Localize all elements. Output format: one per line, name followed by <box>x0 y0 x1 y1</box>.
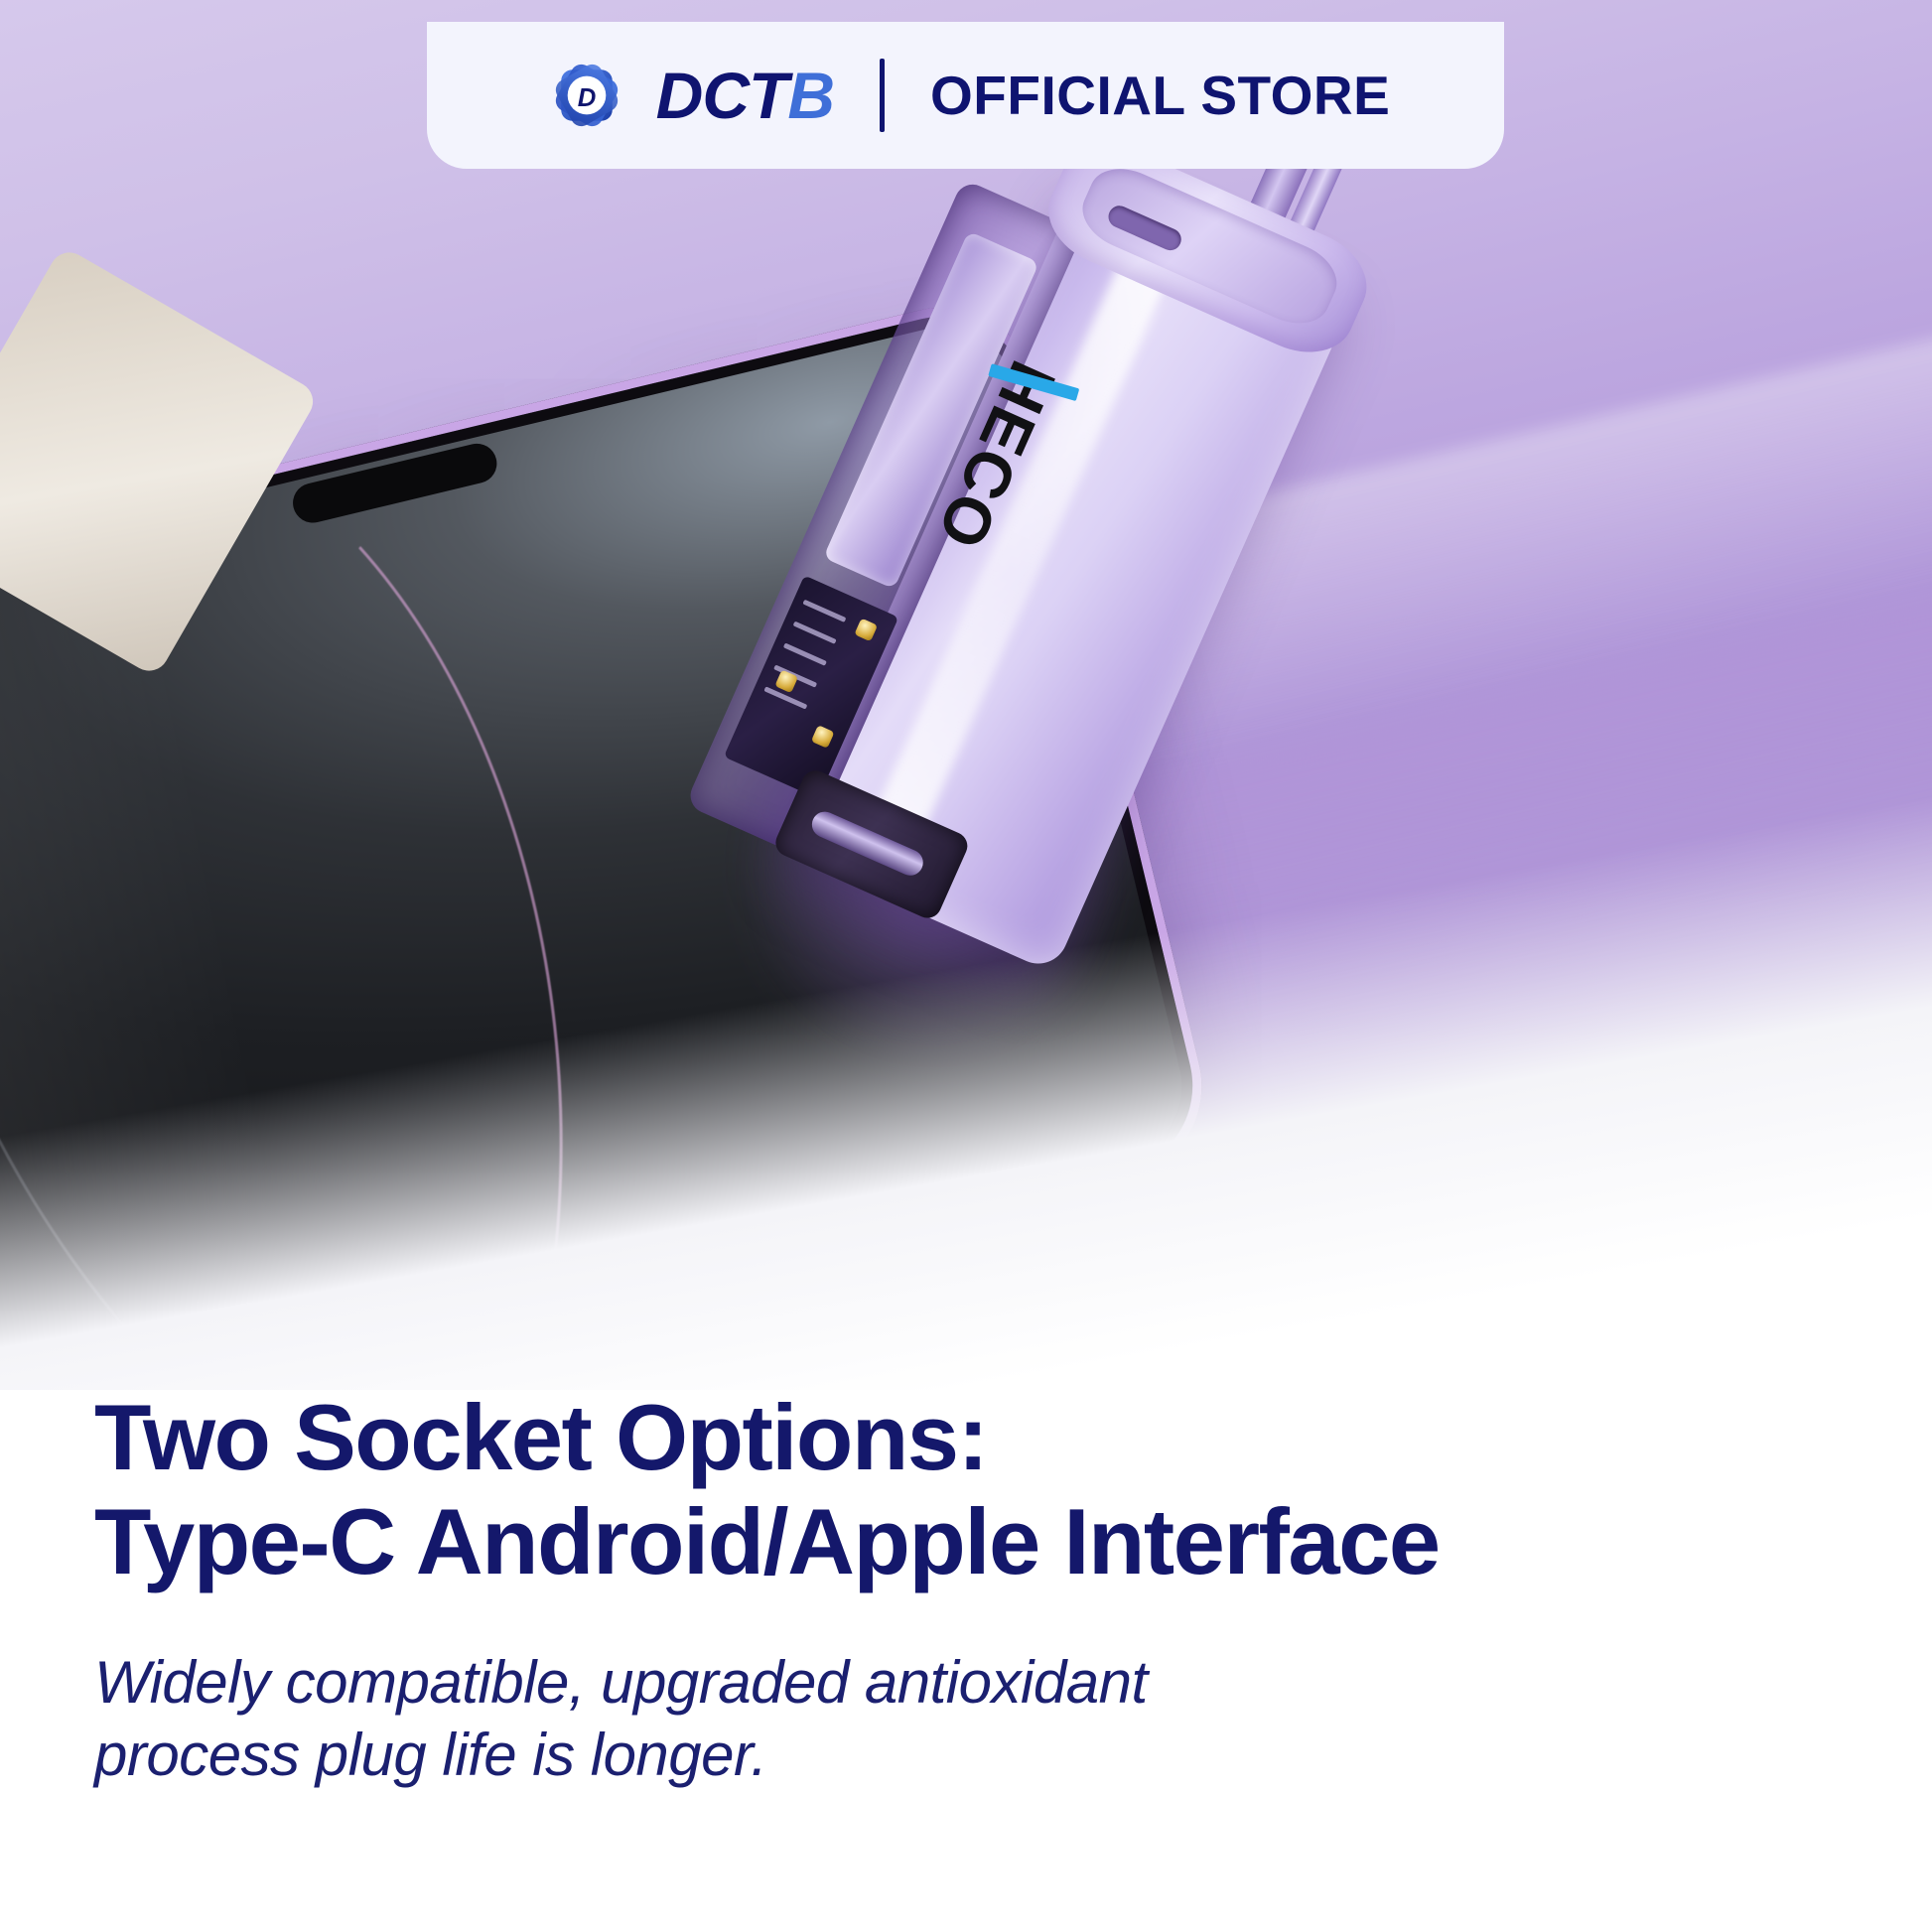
product-banner: HECO <box>0 0 1932 1932</box>
gold-contact <box>854 619 878 642</box>
dctb-flower-logo-icon: D <box>541 50 632 141</box>
pcb-trace <box>802 600 846 622</box>
headline: Two Socket Options: Type-C Android/Apple… <box>94 1385 1782 1594</box>
usb-c-port <box>808 807 927 880</box>
pcb-trace <box>793 621 837 644</box>
svg-text:D: D <box>577 84 596 112</box>
pcb-trace <box>783 642 827 665</box>
brand-wordmark: DCTB <box>656 58 834 133</box>
copy-block: Two Socket Options: Type-C Android/Apple… <box>94 1385 1782 1791</box>
hero-image: HECO <box>0 0 1932 1390</box>
subcopy: Widely compatible, upgraded antioxidant … <box>94 1646 1782 1791</box>
gold-contact <box>811 725 835 749</box>
official-store-label: OFFICIAL STORE <box>930 64 1390 127</box>
store-header-banner: D DCTB OFFICIAL STORE <box>427 22 1504 169</box>
header-divider <box>880 59 885 132</box>
brand-lockup[interactable]: D DCTB <box>541 50 834 141</box>
